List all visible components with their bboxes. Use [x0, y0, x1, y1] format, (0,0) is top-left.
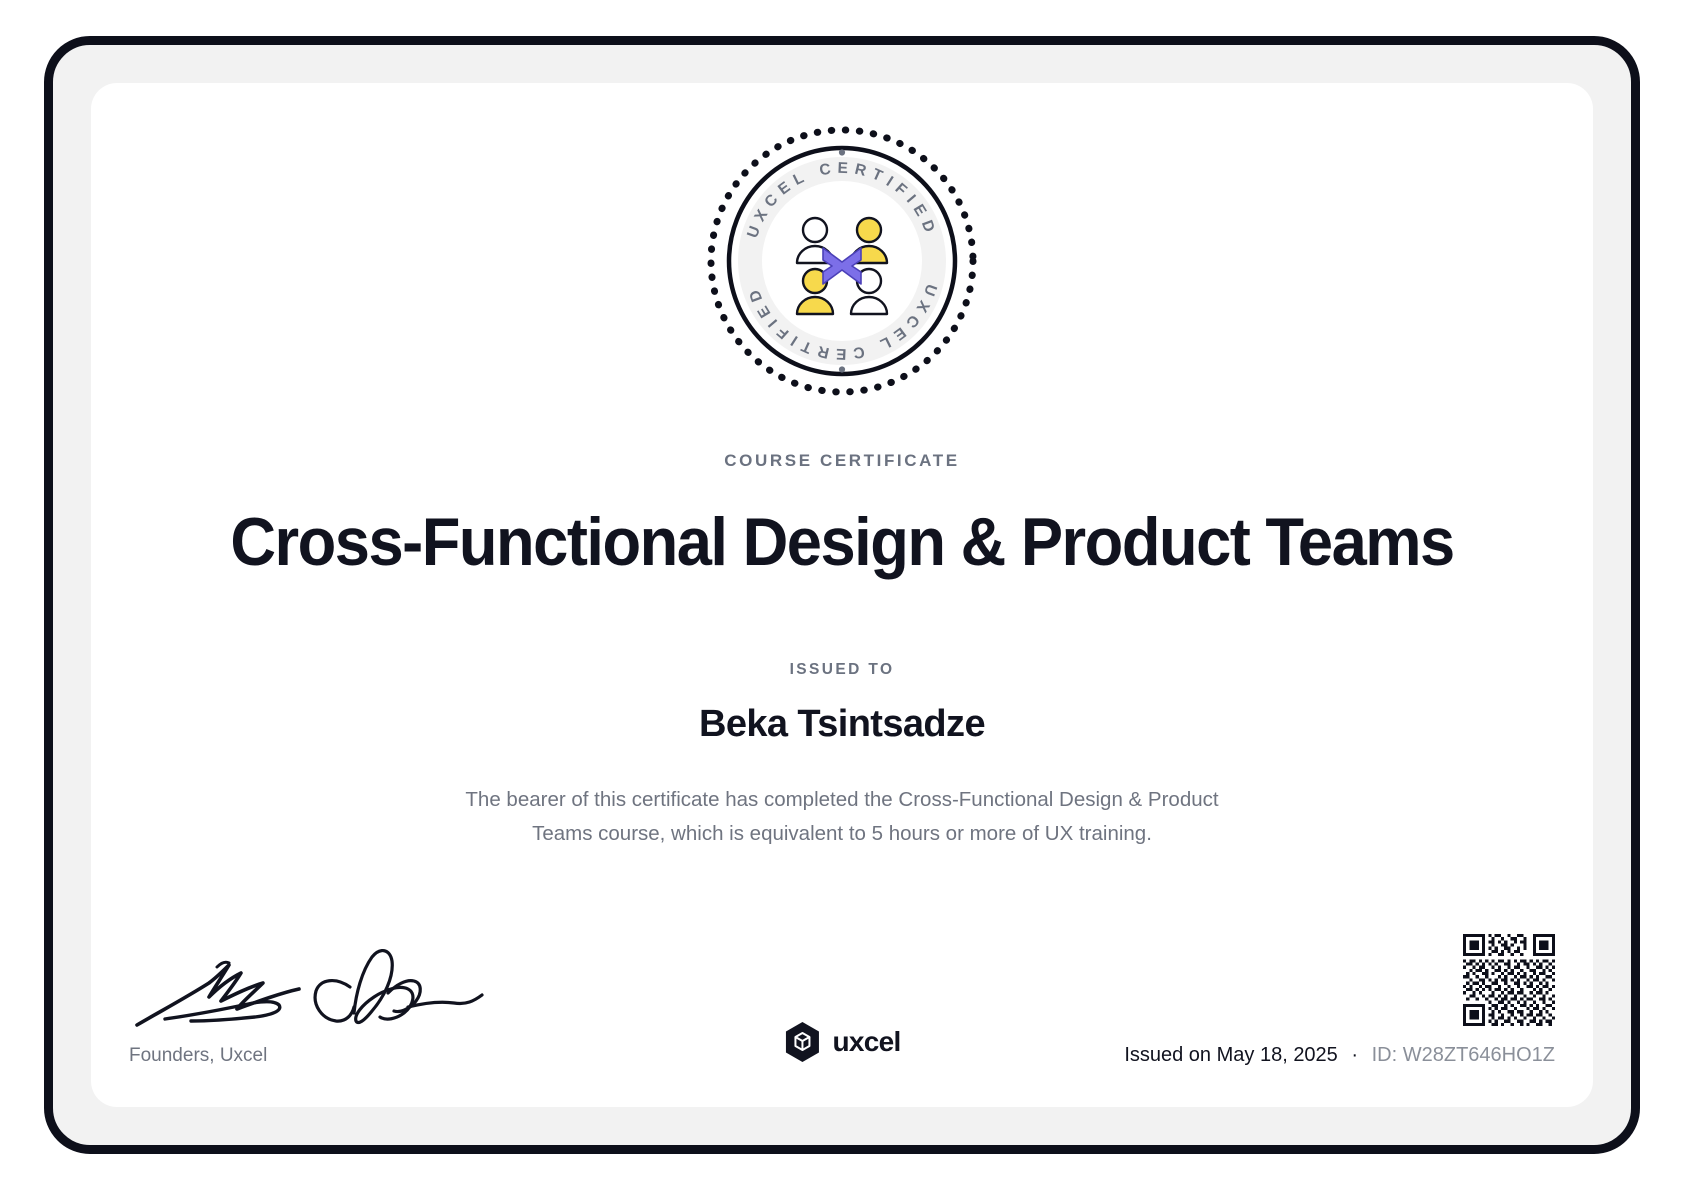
seal-inner-disc	[762, 181, 922, 341]
certificate-card: UXCEL CERTIFIED UXCEL CERTIFIED	[91, 83, 1593, 1107]
signature-role-label: Founders, Uxcel	[129, 1045, 459, 1067]
uxcel-wordmark: uxcel	[832, 1026, 900, 1058]
uxcel-hexagon-icon	[783, 1021, 821, 1063]
seal-dot-bottom	[839, 366, 845, 372]
meta-separator: ·	[1343, 1044, 1366, 1066]
certificate-qr-code[interactable]	[1124, 934, 1555, 1026]
seal-dot-top	[839, 149, 845, 155]
certificate-title: Cross-Functional Design & Product Teams	[144, 503, 1541, 581]
certificate-frame: UXCEL CERTIFIED UXCEL CERTIFIED	[44, 36, 1640, 1154]
certificate-id: ID: W28ZT646HO1Z	[1372, 1044, 1555, 1066]
issue-meta-line: Issued on May 18, 2025 · ID: W28ZT646HO1…	[1124, 1044, 1555, 1067]
signature-two-icon	[284, 949, 584, 1039]
uxcel-brand-logo: uxcel	[783, 1021, 900, 1063]
recipient-name: Beka Tsintsadze	[91, 703, 1593, 746]
signature-block: Founders, Uxcel	[129, 949, 459, 1067]
founder-signatures	[129, 949, 459, 1039]
certificate-description: The bearer of this certificate has compl…	[442, 783, 1242, 851]
course-certificate-kicker: COURSE CERTIFICATE	[91, 451, 1593, 471]
issued-to-label: ISSUED TO	[91, 661, 1593, 679]
uxcel-certified-seal: UXCEL CERTIFIED UXCEL CERTIFIED	[702, 121, 982, 401]
certificate-meta-block: Issued on May 18, 2025 · ID: W28ZT646HO1…	[1124, 934, 1555, 1067]
issued-on-date: Issued on May 18, 2025	[1124, 1044, 1337, 1066]
